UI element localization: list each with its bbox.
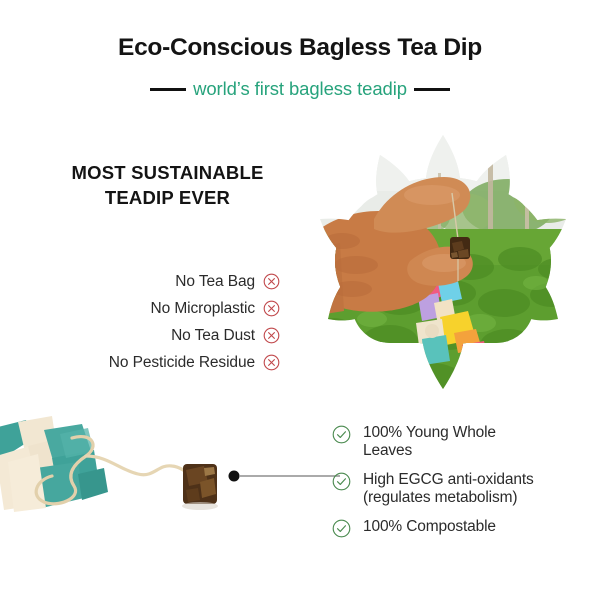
- negative-claim-label: No Pesticide Residue: [109, 354, 255, 372]
- headline-text: MOST SUSTAINABLE TEADIP EVER: [60, 160, 275, 210]
- positive-claim-label: High EGCG anti-oxidants (regulates metab…: [363, 471, 534, 507]
- leader-line-graphic: [228, 470, 340, 482]
- page-title: Eco-Conscious Bagless Tea Dip: [0, 34, 600, 62]
- negative-claim-label: No Tea Bag: [175, 273, 255, 291]
- teal-box-with-teadip-photo: [0, 412, 240, 532]
- leader-dot: [229, 471, 240, 482]
- positive-claims-list: 100% Young Whole Leaves High EGCG anti-o…: [332, 424, 594, 549]
- x-circle-icon: [263, 327, 280, 344]
- list-item: No Tea Bag: [40, 268, 280, 295]
- subtitle-dash-right: [414, 88, 450, 91]
- negative-claims-list: No Tea Bag No Microplastic No Tea Dust N…: [40, 268, 280, 376]
- subtitle-dash-left: [150, 88, 186, 91]
- list-item: 100% Young Whole Leaves: [332, 424, 594, 460]
- subtitle-row: world’s first bagless teadip: [0, 78, 600, 100]
- x-circle-icon: [263, 354, 280, 371]
- negative-claim-label: No Microplastic: [151, 300, 255, 318]
- negative-claim-label: No Tea Dust: [171, 327, 255, 345]
- list-item: High EGCG anti-oxidants (regulates metab…: [332, 471, 594, 507]
- list-item: No Pesticide Residue: [40, 349, 280, 376]
- hand-holding-teadip-flower-photo: [312, 133, 574, 391]
- list-item: 100% Compostable: [332, 518, 594, 538]
- page-subtitle: world’s first bagless teadip: [193, 78, 407, 100]
- positive-claim-label: 100% Young Whole Leaves: [363, 424, 496, 460]
- flower-masked-photo: [312, 133, 574, 391]
- teal-box: [0, 416, 108, 512]
- check-circle-icon: [332, 425, 351, 444]
- check-circle-icon: [332, 472, 351, 491]
- tea-cube: [182, 464, 218, 510]
- x-circle-icon: [263, 300, 280, 317]
- infographic-page: Eco-Conscious Bagless Tea Dip world’s fi…: [0, 0, 600, 600]
- list-item: No Tea Dust: [40, 322, 280, 349]
- product-illustration: [0, 412, 240, 532]
- positive-claim-label: 100% Compostable: [363, 518, 496, 536]
- tea-cube: [450, 237, 470, 259]
- callout-leader-line: [228, 470, 340, 482]
- x-circle-icon: [263, 273, 280, 290]
- photo-content: [312, 133, 574, 391]
- list-item: No Microplastic: [40, 295, 280, 322]
- check-circle-icon: [332, 519, 351, 538]
